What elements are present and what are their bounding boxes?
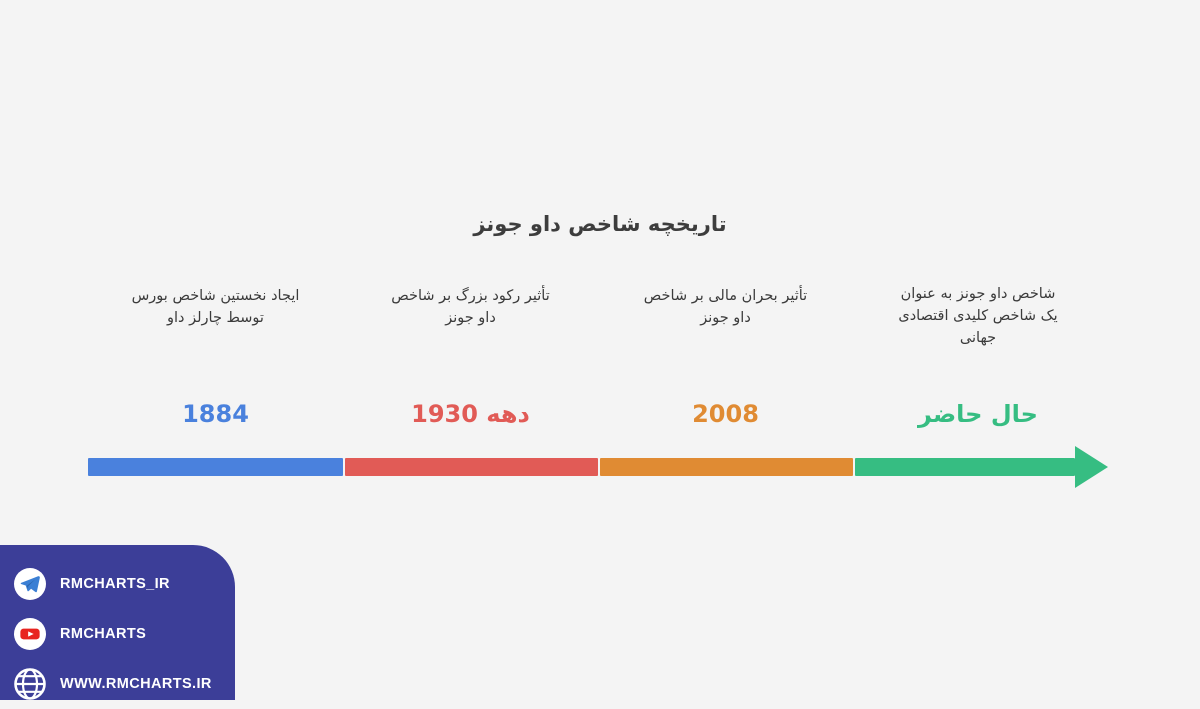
timeline-segment-3: تأثیر بحران مالی بر شاخص داو جونز 2008	[598, 285, 853, 485]
description-line: توسط چارلز داو	[88, 307, 343, 329]
watermark-label-website: WWW.RMCHARTS.IR	[60, 676, 212, 692]
timeline-bar-3	[600, 458, 853, 476]
timeline-segment-1-description: ایجاد نخستین شاخص بورس توسط چارلز داو	[88, 285, 343, 329]
timeline-segment-4-description: شاخص داو جونز به عنوان یک شاخص کلیدی اقت…	[853, 283, 1103, 349]
timeline-segment-1: ایجاد نخستین شاخص بورس توسط چارلز داو 18…	[88, 285, 343, 485]
telegram-icon	[14, 568, 46, 600]
description-line: تأثیر بحران مالی بر شاخص	[598, 285, 853, 307]
watermark-panel: RMCHARTS_IR RMCHARTS WWW.	[0, 545, 235, 700]
globe-icon	[14, 668, 46, 700]
timeline-bar-4	[855, 458, 1075, 476]
youtube-icon	[14, 618, 46, 650]
watermark-row-website[interactable]: WWW.RMCHARTS.IR	[0, 659, 235, 709]
timeline-arrow-head-icon	[1075, 446, 1108, 488]
timeline-segment-2-description: تأثیر رکود بزرگ بر شاخص داو جونز	[343, 285, 598, 329]
timeline-segment-3-year: 2008	[598, 400, 853, 428]
description-line: داو جونز	[343, 307, 598, 329]
timeline-segment-4: شاخص داو جونز به عنوان یک شاخص کلیدی اقت…	[853, 285, 1103, 485]
timeline-bar-2	[345, 458, 598, 476]
description-line: تأثیر رکود بزرگ بر شاخص	[343, 285, 598, 307]
timeline-segment-3-description: تأثیر بحران مالی بر شاخص داو جونز	[598, 285, 853, 329]
infographic-canvas: تاریخچه شاخص داو جونز ایجاد نخستین شاخص …	[0, 0, 1200, 700]
description-line: داو جونز	[598, 307, 853, 329]
watermark-row-telegram[interactable]: RMCHARTS_IR	[0, 559, 235, 609]
timeline: ایجاد نخستین شاخص بورس توسط چارلز داو 18…	[88, 285, 1108, 485]
timeline-segment-2-year: دهه 1930	[343, 400, 598, 428]
description-line: ایجاد نخستین شاخص بورس	[88, 285, 343, 307]
timeline-segment-2: تأثیر رکود بزرگ بر شاخص داو جونز دهه 193…	[343, 285, 598, 485]
page-title: تاریخچه شاخص داو جونز	[0, 212, 1200, 236]
watermark-row-youtube[interactable]: RMCHARTS	[0, 609, 235, 659]
timeline-bar-1	[88, 458, 343, 476]
timeline-segment-4-year: حال حاضر	[853, 400, 1103, 428]
watermark-label-telegram: RMCHARTS_IR	[60, 576, 170, 592]
description-line: یک شاخص کلیدی اقتصادی	[853, 305, 1103, 327]
timeline-segment-1-year: 1884	[88, 400, 343, 428]
description-line: جهانی	[853, 327, 1103, 349]
description-line: شاخص داو جونز به عنوان	[853, 283, 1103, 305]
watermark-label-youtube: RMCHARTS	[60, 626, 146, 642]
